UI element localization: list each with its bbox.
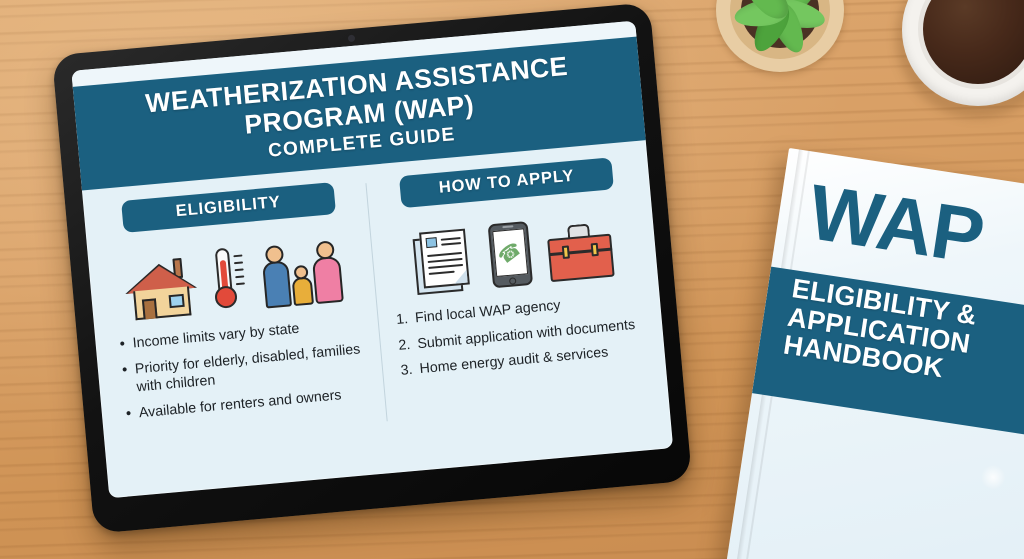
- heading-how-to-apply: HOW TO APPLY: [399, 158, 614, 209]
- tablet-camera: [348, 35, 356, 43]
- column-how-to-apply: HOW TO APPLY: [366, 155, 661, 443]
- column-eligibility: ELIGIBILITY: [95, 180, 388, 468]
- step-number: 3.: [400, 361, 413, 380]
- document-corner-fold: [453, 270, 467, 284]
- house-icon: [126, 257, 197, 321]
- thermometer-tick: [236, 283, 245, 286]
- potted-plant: [716, 0, 844, 72]
- family-parent-body: [312, 256, 344, 304]
- toolbox-latch: [590, 243, 598, 257]
- thermometer-icon: [209, 247, 249, 314]
- family-child-figure: [291, 265, 314, 307]
- eligibility-list: Income limits vary by state Priority for…: [117, 315, 368, 424]
- tablet-device: WEATHERIZATION ASSISTANCE PROGRAM (WAP) …: [52, 2, 692, 533]
- document-photo-box: [425, 238, 437, 249]
- toolbox-base: [548, 249, 614, 283]
- house-door: [142, 299, 158, 320]
- documents-icon: [412, 229, 475, 296]
- step-number: 1.: [395, 310, 408, 329]
- house-window: [169, 294, 185, 308]
- apply-icon-row: ☎: [388, 202, 638, 297]
- step-text: Find local WAP agency: [414, 298, 561, 327]
- family-adult-figure: [261, 245, 292, 309]
- toolbox-icon: [546, 222, 615, 283]
- heading-eligibility: ELIGIBILITY: [121, 182, 336, 233]
- phone-icon: ☎: [487, 221, 533, 288]
- book-title-wap: WAP: [804, 176, 1024, 286]
- family-parent-figure: [311, 240, 344, 304]
- step-number: 2.: [398, 336, 411, 355]
- thermometer-tick: [234, 255, 243, 258]
- apply-steps-list: 1.Find local WAP agency 2.Submit applica…: [395, 290, 645, 381]
- family-child-body: [292, 277, 314, 307]
- book-cover-glint: [969, 453, 1017, 501]
- thermometer-tick: [234, 262, 243, 265]
- eligibility-icon-row: [109, 227, 359, 322]
- infographic-content: ELIGIBILITY: [82, 141, 671, 469]
- coffee-cup: [902, 0, 1024, 106]
- thermometer-tick: [235, 269, 244, 272]
- family-adult-body: [262, 261, 292, 309]
- thermometer-bulb: [214, 285, 238, 309]
- tablet-screen[interactable]: WEATHERIZATION ASSISTANCE PROGRAM (WAP) …: [71, 21, 673, 499]
- toolbox-latch: [562, 246, 570, 260]
- family-icon: [261, 236, 345, 309]
- thermometer-tick: [235, 276, 244, 279]
